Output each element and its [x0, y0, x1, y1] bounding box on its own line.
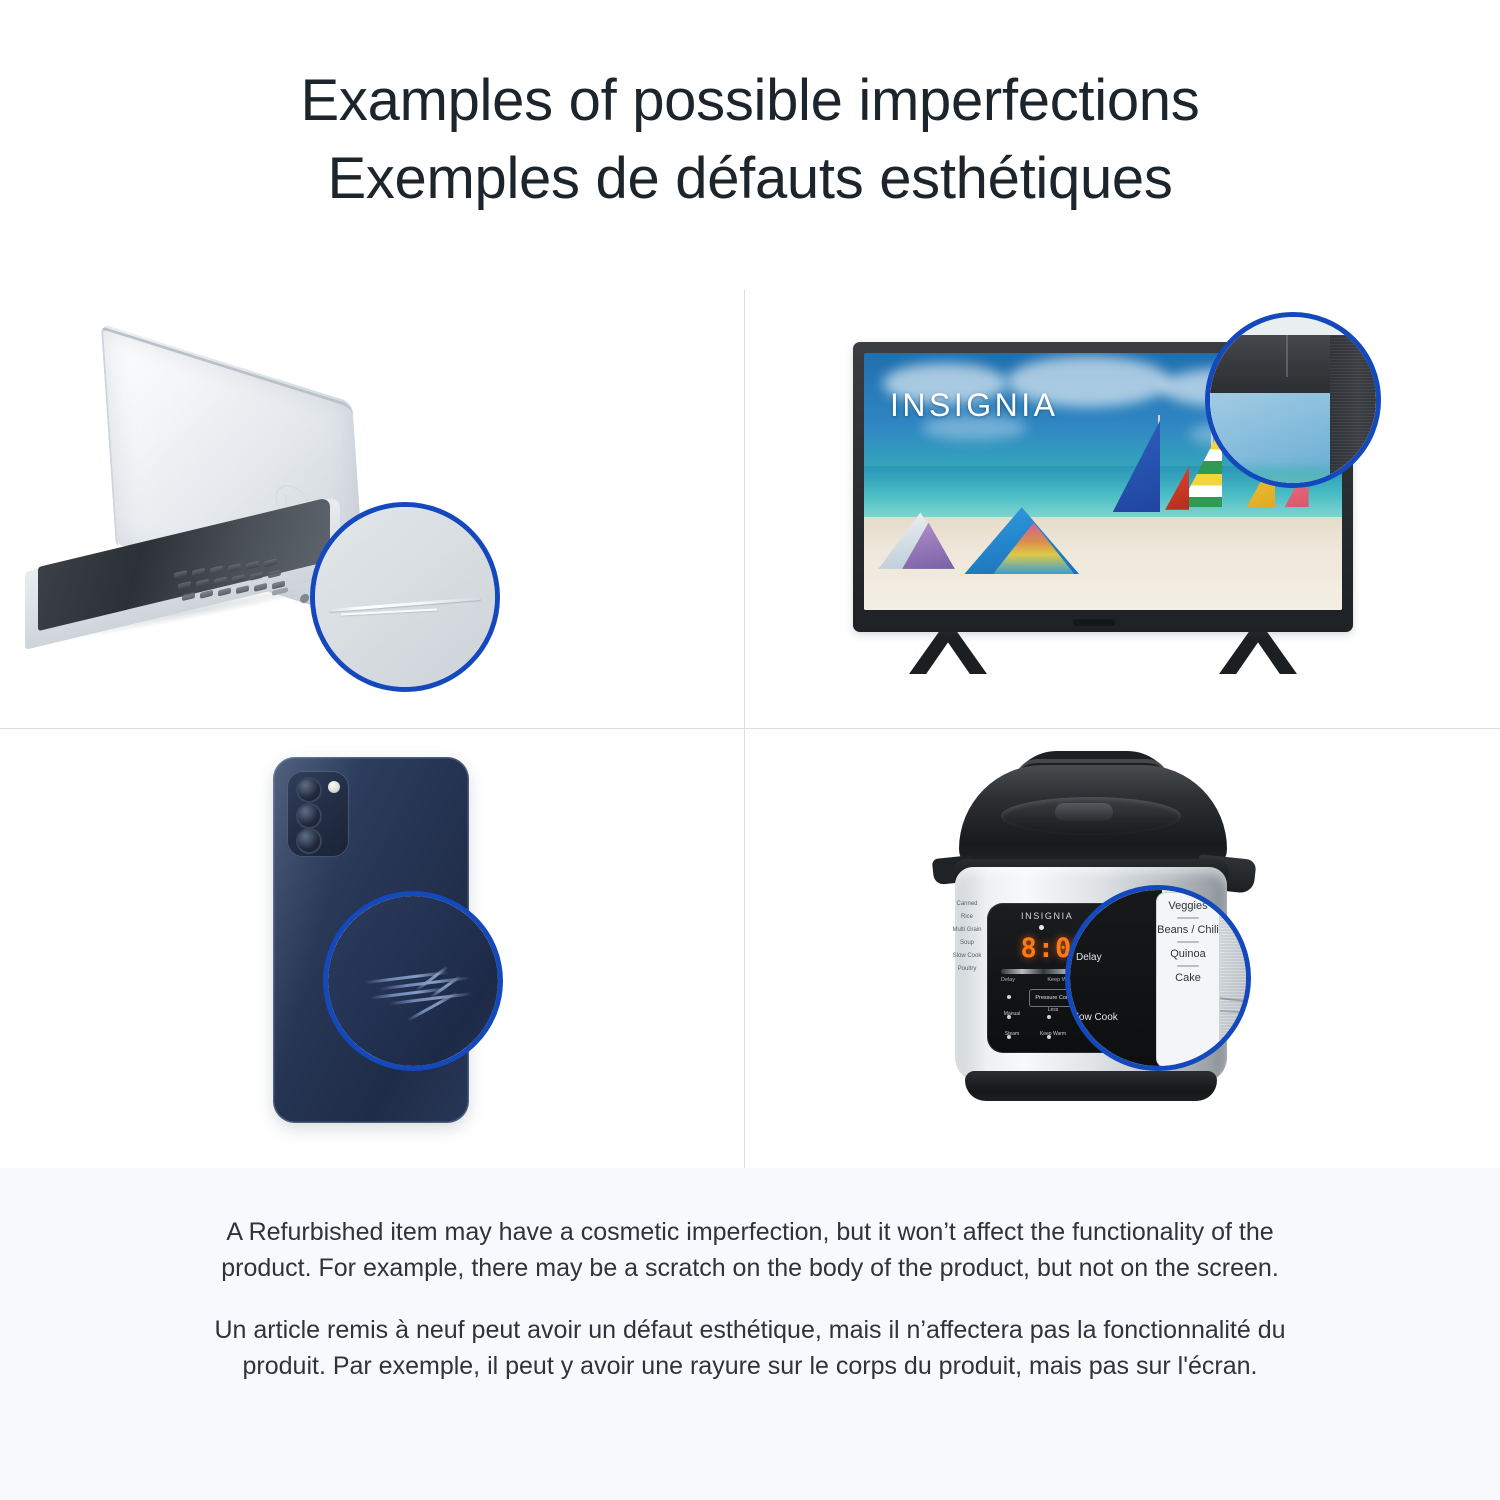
product-examples-grid: INSIGNIA [0, 290, 1500, 1168]
magnifier-laptop-scratch [310, 502, 500, 692]
cooker-left-label-0: Canned [956, 901, 977, 908]
phone-camera-lens-3 [296, 828, 322, 854]
panel-television: INSIGNIA [745, 290, 1500, 729]
cooker-btn-steam[interactable]: Steam [997, 1031, 1027, 1037]
cooker-status-led [1039, 925, 1044, 930]
cooker-bar-label-0: Delay [1001, 977, 1015, 983]
television-illustration: INSIGNIA [745, 290, 1500, 728]
cooker-left-label-5: Poultry [958, 966, 977, 973]
smartphone-illustration [0, 729, 744, 1168]
phone-flash-icon [328, 781, 340, 793]
cooker-zoom-brushed-steel [1220, 885, 1251, 1071]
cooker-btn-keep-warm[interactable]: Keep Warm [1035, 1031, 1071, 1037]
cooker-zoom-panel-dark [1065, 885, 1162, 1071]
footer-paragraph-en: A Refurbished item may have a cosmetic i… [183, 1214, 1318, 1286]
cooker-zoom-label-slow-cook: Slow Cook [1070, 1012, 1118, 1023]
cooker-zoom-btn-beans-chili: Beans / Chili [1157, 924, 1219, 936]
cooker-zoom-btn-quinoa: Quinoa [1170, 948, 1205, 960]
cooker-left-label-1: Rice [961, 914, 973, 921]
phone-camera-lens-1 [296, 777, 322, 803]
cooker-brand-text: INSIGNIA [1021, 911, 1073, 921]
cooker-btn-less[interactable]: Less [1035, 1007, 1071, 1013]
phone-camera-lens-2 [296, 803, 322, 829]
cooker-btn-manual[interactable]: Manual [997, 1011, 1027, 1017]
panel-pressure-cooker: Canned Rice Multi Grain Soup Slow Cook P… [745, 729, 1500, 1168]
magnifier-cooker-scratch: Delay Slow Cook Veggies Beans / Chili Qu… [1065, 885, 1251, 1071]
cooker-left-label-2: Multi Grain [952, 927, 981, 934]
tv-brand-text: INSIGNIA [890, 387, 1058, 424]
page-header: Examples of possible imperfections Exemp… [0, 0, 1500, 290]
cooker-zoom-label-delay: Delay [1076, 952, 1102, 963]
page-title-en: Examples of possible imperfections [301, 62, 1200, 140]
cooker-steam-valve [1055, 803, 1113, 821]
cooker-base [965, 1071, 1217, 1101]
tv-foot-right [1219, 630, 1297, 674]
cooker-zoom-btn-cake: Cake [1175, 972, 1201, 984]
page-title-fr: Exemples de défauts esthétiques [327, 140, 1172, 218]
page-footer: A Refurbished item may have a cosmetic i… [0, 1168, 1500, 1500]
tv-logo-plate [1073, 619, 1115, 626]
laptop-illustration [0, 290, 744, 728]
pressure-cooker-illustration: Canned Rice Multi Grain Soup Slow Cook P… [745, 729, 1500, 1168]
imperfections-infographic: Examples of possible imperfections Exemp… [0, 0, 1500, 1500]
footer-paragraph-fr: Un article remis à neuf peut avoir un dé… [183, 1312, 1318, 1384]
magnifier-tv-bezel [1205, 312, 1381, 488]
phone-camera-module [287, 771, 349, 857]
tv-zoom-bezel-seam [1286, 335, 1288, 377]
panel-laptop [0, 290, 745, 729]
cooker-zoom-button-column: Veggies Beans / Chili Quinoa Cake [1156, 892, 1220, 1068]
tv-zoom-bezel-texture [1330, 335, 1381, 488]
cooker-left-label-3: Soup [960, 940, 974, 947]
magnifier-phone-scratches [323, 891, 503, 1071]
cooker-left-label-4: Slow Cook [953, 953, 982, 960]
tv-foot-left [909, 630, 987, 674]
panel-smartphone [0, 729, 745, 1168]
cooker-zoom-btn-veggies: Veggies [1168, 900, 1207, 912]
cooker-left-label-column: Canned Rice Multi Grain Soup Slow Cook P… [949, 895, 985, 1053]
